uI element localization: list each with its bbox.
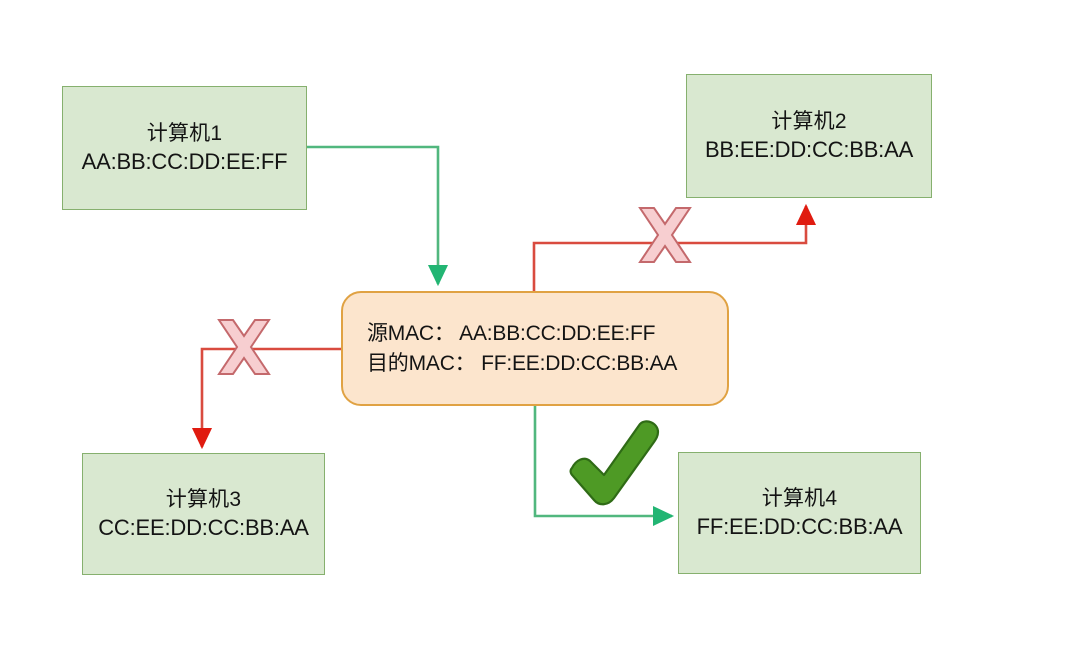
host-name-computer-1: 计算机1 [147, 121, 222, 148]
host-box-computer-4[interactable]: 计算机4 FF:EE:DD:CC:BB:AA [678, 452, 921, 574]
host-box-computer-3[interactable]: 计算机3 CC:EE:DD:CC:BB:AA [82, 453, 325, 575]
reject-x-icon-computer-2 [632, 204, 698, 266]
accept-check-icon-computer-4 [566, 418, 666, 506]
frame-source-mac-line: 源MAC： AA:BB:CC:DD:EE:FF [367, 319, 655, 349]
host-box-computer-1[interactable]: 计算机1 AA:BB:CC:DD:EE:FF [62, 86, 307, 210]
host-name-computer-4: 计算机4 [762, 486, 837, 513]
host-mac-computer-1: AA:BB:CC:DD:EE:FF [82, 148, 288, 176]
ethernet-frame-box[interactable]: 源MAC： AA:BB:CC:DD:EE:FF 目的MAC： FF:EE:DD:… [341, 291, 729, 406]
diagram-canvas: 计算机1 AA:BB:CC:DD:EE:FF 计算机2 BB:EE:DD:CC:… [0, 0, 1080, 645]
host-mac-computer-4: FF:EE:DD:CC:BB:AA [697, 513, 903, 541]
line-computer-1-to-frame [307, 147, 438, 284]
host-box-computer-2[interactable]: 计算机2 BB:EE:DD:CC:BB:AA [686, 74, 932, 198]
host-mac-computer-3: CC:EE:DD:CC:BB:AA [98, 514, 309, 542]
reject-x-icon-computer-3 [211, 316, 277, 378]
host-name-computer-3: 计算机3 [166, 487, 241, 514]
host-mac-computer-2: BB:EE:DD:CC:BB:AA [705, 136, 913, 164]
frame-dest-mac-line: 目的MAC： FF:EE:DD:CC:BB:AA [367, 349, 677, 379]
host-name-computer-2: 计算机2 [771, 109, 846, 136]
